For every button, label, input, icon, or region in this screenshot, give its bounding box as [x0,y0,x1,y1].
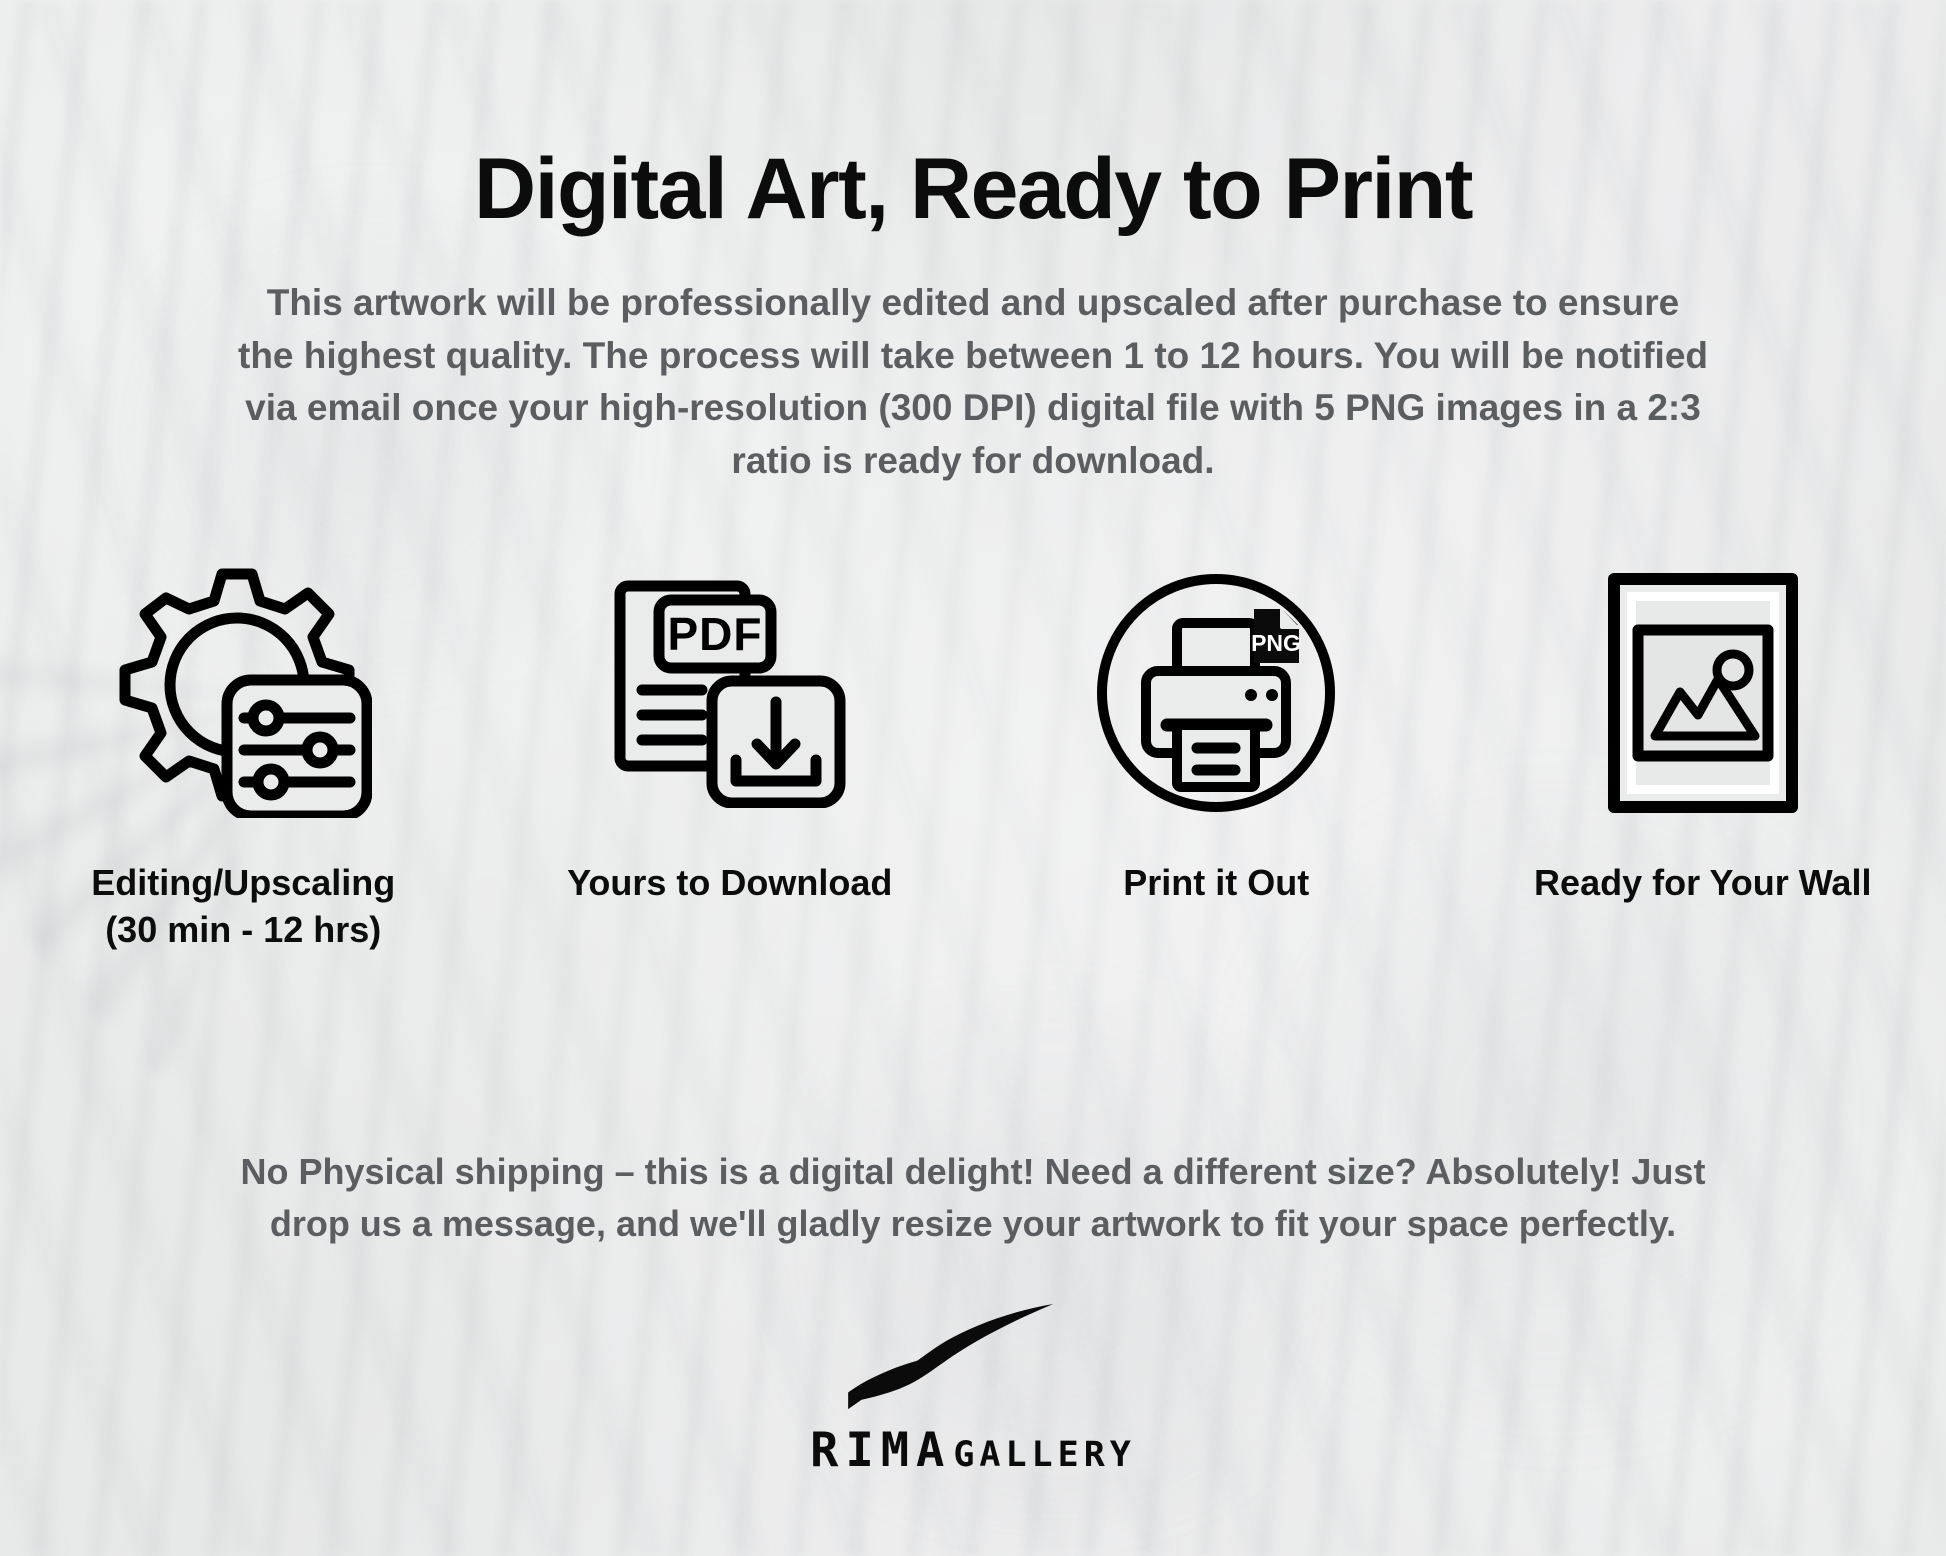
swoosh-mark-icon [848,1288,1098,1415]
feature-label-editing-upscaling: Editing/Upscaling (30 min - 12 hrs) [91,860,395,954]
feature-label-print: Print it Out [1123,860,1309,907]
brand-name-secondary: GALLERY [953,1435,1136,1475]
brand-name-primary: RIMA [810,1423,951,1478]
svg-text:PNG: PNG [1251,630,1301,656]
feature-item-editing-upscaling: Editing/Upscaling (30 min - 12 hrs) [0,548,487,954]
gear-sliders-icon [114,548,372,838]
printer-png-icon: PNG [1094,548,1338,838]
closing-paragraph: No Physical shipping – this is a digital… [223,1146,1723,1250]
feature-label-download: Yours to Download [567,860,892,907]
brand-wordmark: RIMA GALLERY [810,1423,1136,1478]
page-title: Digital Art, Ready to Print [0,144,1946,234]
feature-row: Editing/Upscaling (30 min - 12 hrs) PDF [0,548,1946,954]
brand-logo: RIMA GALLERY [810,1288,1136,1478]
pdf-download-icon: PDF [612,548,848,838]
intro-paragraph: This artwork will be professionally edit… [238,277,1708,487]
feature-item-download: PDF Yours to Download [487,548,974,954]
feature-item-wall: Ready for Your Wall [1460,548,1946,954]
feature-label-wall: Ready for Your Wall [1534,860,1871,907]
promo-graphic: Digital Art, Ready to Print This artwork… [0,0,1946,1556]
feature-item-print: PNG Print it Out [973,548,1460,954]
svg-text:PDF: PDF [667,608,762,660]
framed-picture-icon [1608,548,1798,838]
